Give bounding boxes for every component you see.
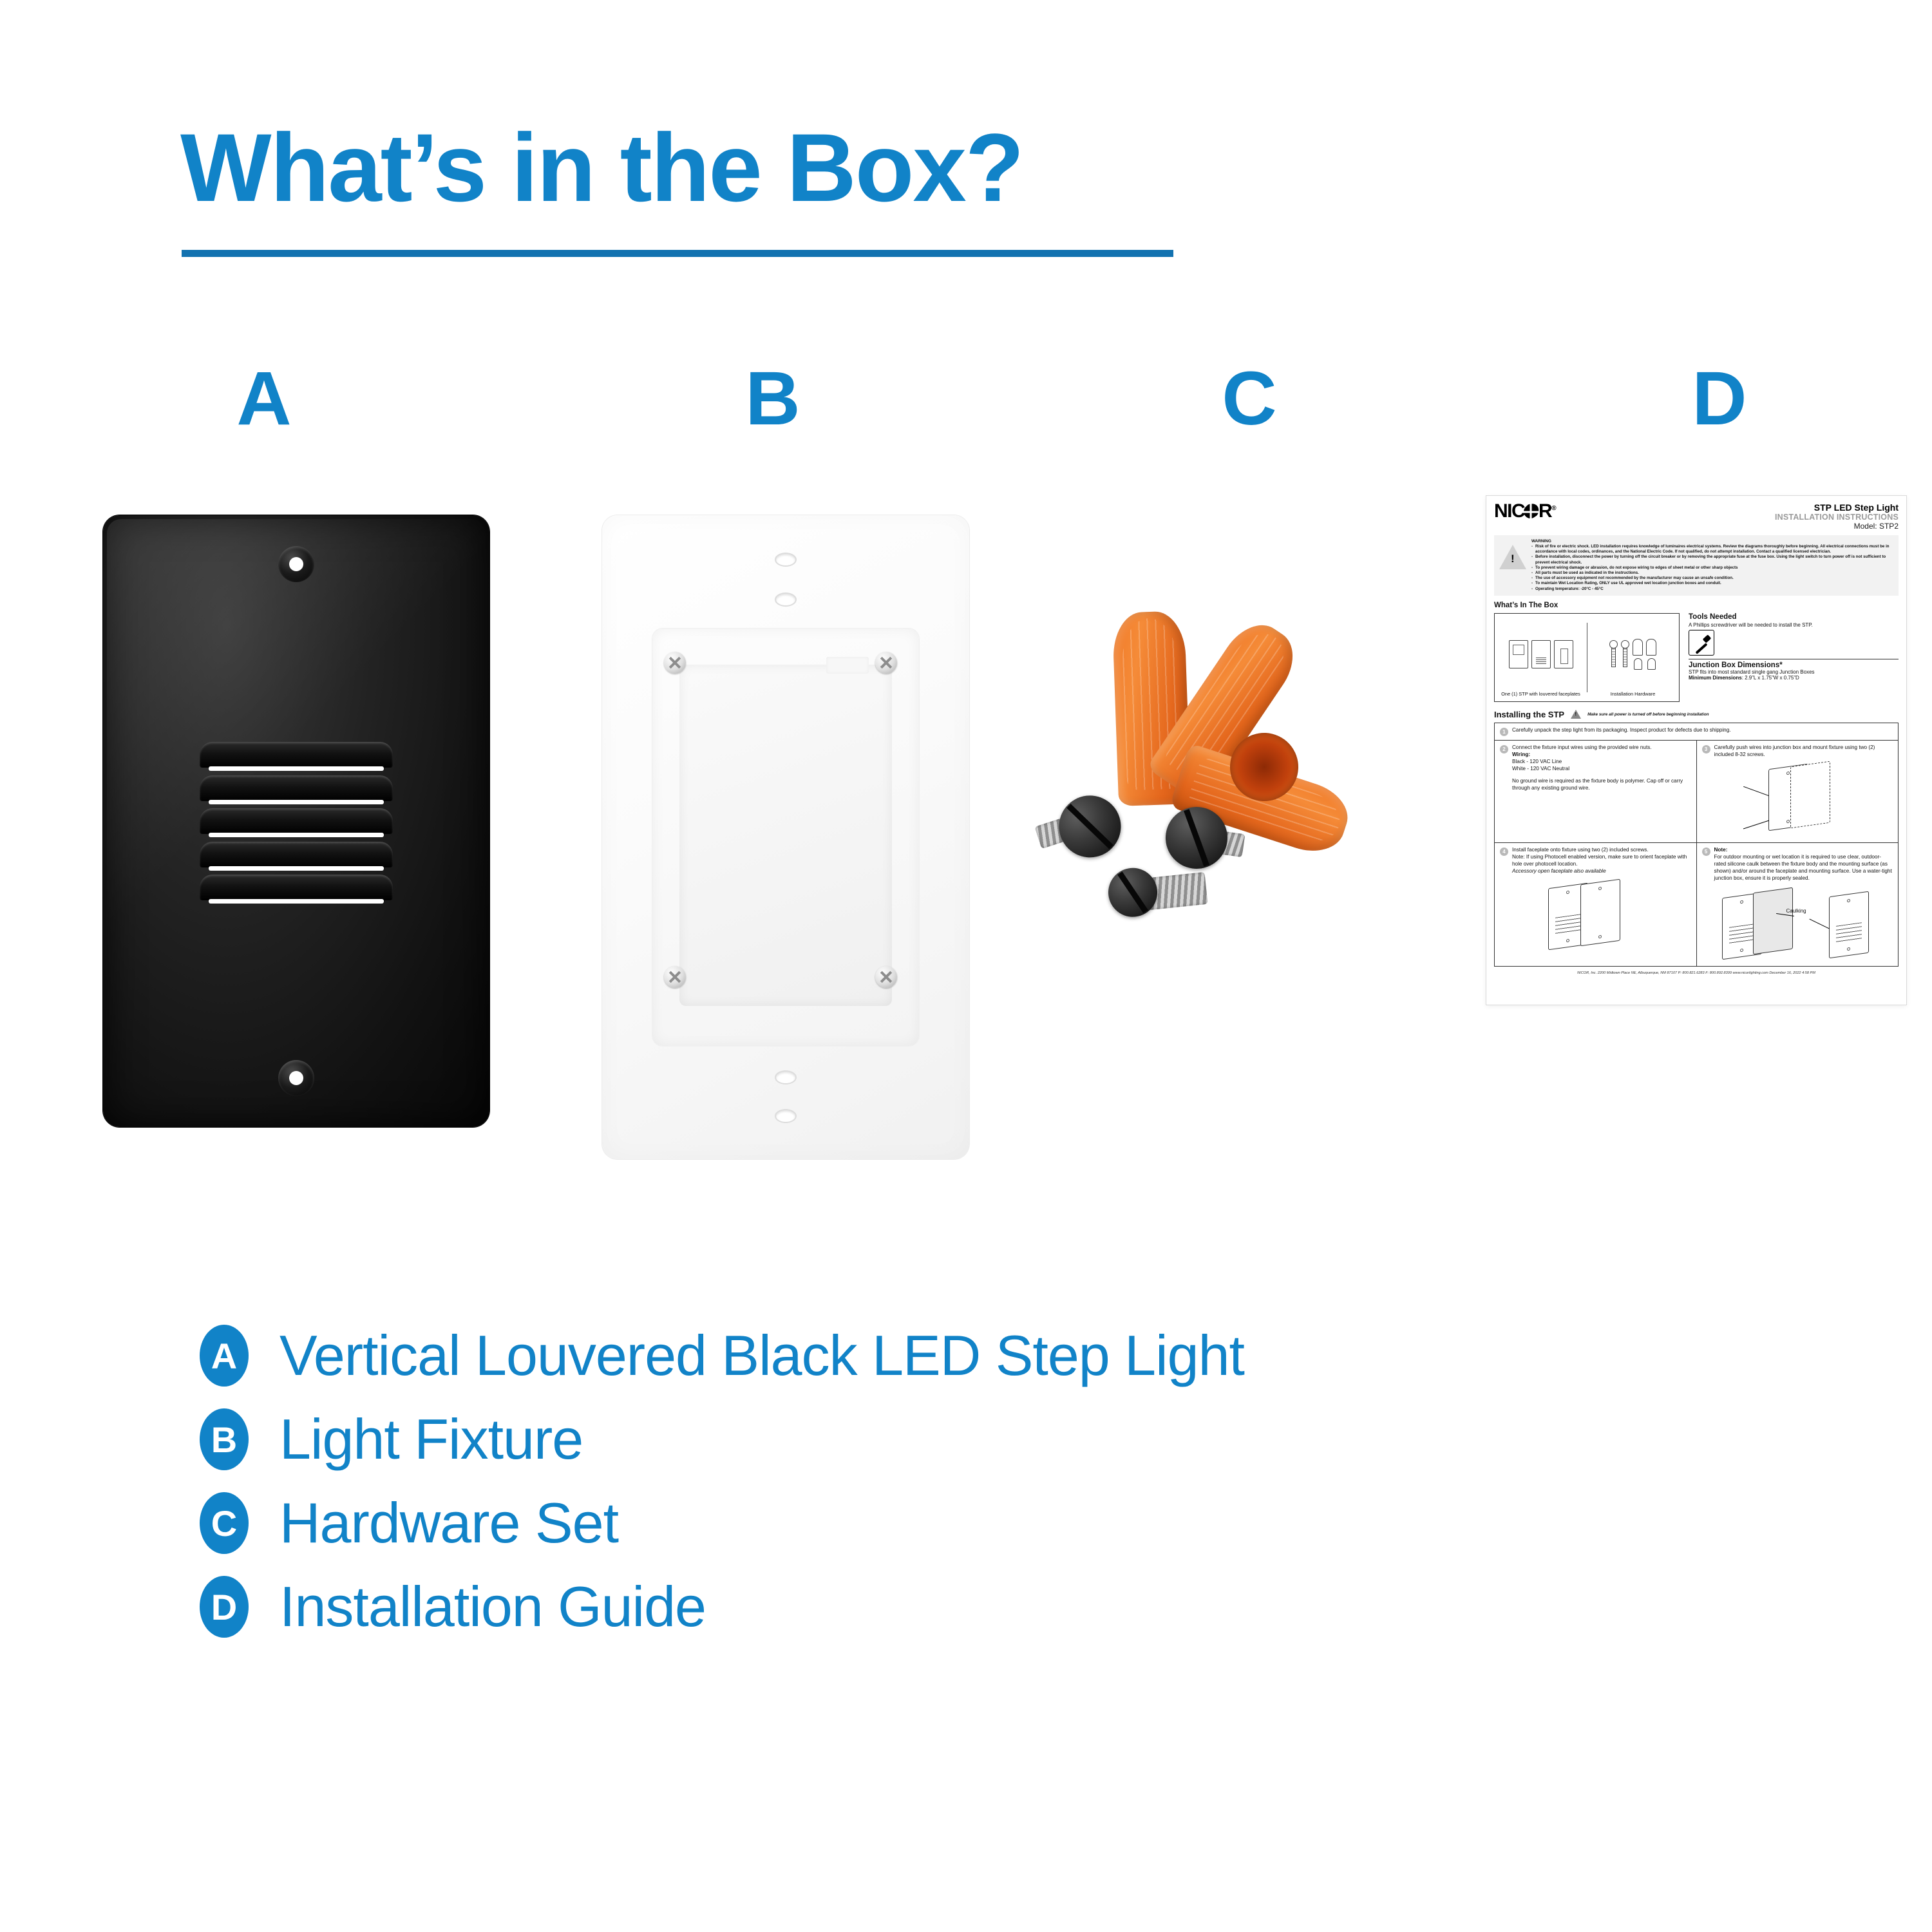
witb-right-caption: Installation Hardware <box>1611 691 1655 697</box>
screw-hole-top-icon <box>278 546 314 582</box>
guide-install-heading-row: Installing the STP Make sure all power i… <box>1494 710 1899 719</box>
junction-box-line2: Minimum Dimensions: 2.9”L x 1.75”W x 0.7… <box>1689 675 1899 681</box>
step-photocell-note: Note: If using Photocell enabled version… <box>1512 854 1691 868</box>
vent-hole-icon <box>776 1072 795 1083</box>
witb-left: One (1) STP with louvered faceplates <box>1495 614 1587 701</box>
step-number: 4 <box>1500 848 1508 856</box>
warning-item: The use of accessory equipment not recom… <box>1531 576 1893 581</box>
step-4-diagram <box>1512 879 1691 955</box>
guide-witb-heading: What’s In The Box <box>1494 601 1899 609</box>
divider <box>1587 623 1587 692</box>
guide-header-right: STP LED Step Light INSTALLATION INSTRUCT… <box>1775 502 1899 531</box>
product-image-row: NICOR® STP LED Step Light INSTALLATION I… <box>0 496 1932 1191</box>
step-cell-2: 2 Connect the fixture input wires using … <box>1495 741 1697 842</box>
mini-louvered-faceplate-icon <box>1531 640 1551 668</box>
step-5-diagram: Caulking <box>1714 886 1893 962</box>
witb-fixture-art <box>1509 614 1573 691</box>
step-accessory-note: Accessory open faceplate also available <box>1512 868 1691 875</box>
install-heading: Installing the STP <box>1494 710 1564 719</box>
warning-item: To prevent wiring damage or abrasion, do… <box>1531 565 1893 571</box>
nicor-star-icon <box>1524 505 1537 518</box>
guide-steps: 1 Carefully unpack the step light from i… <box>1494 723 1899 967</box>
mini-screw-icon <box>1609 640 1618 668</box>
diagram-faceplate <box>1829 891 1869 958</box>
legend-item-b: B Light Fixture <box>200 1397 1244 1481</box>
tools-heading: Tools Needed <box>1689 613 1899 621</box>
fixture-screw-icon <box>875 652 897 674</box>
junction-box-heading: Junction Box Dimensions* <box>1689 661 1899 669</box>
warning-item: To maintain Wet Location Rating, ONLY us… <box>1531 581 1893 586</box>
legend-label-c: Hardware Set <box>279 1495 618 1551</box>
witb-left-caption: One (1) STP with louvered faceplates <box>1501 691 1580 697</box>
legend-badge-d: D <box>200 1576 249 1638</box>
guide-footer: NICOR, Inc. 2200 Midtown Place NE, Albuq… <box>1494 971 1899 975</box>
louver-slat <box>200 742 393 768</box>
step-note-title: Note: <box>1714 847 1728 853</box>
product-image-black-louvered-step-light <box>103 515 489 1127</box>
legend-item-d: D Installation Guide <box>200 1565 1244 1649</box>
guide-model: Model: STP2 <box>1775 522 1899 531</box>
step-row: 1 Carefully unpack the step light from i… <box>1495 723 1898 741</box>
item-letter-c: C <box>1185 361 1314 437</box>
item-letter-d: D <box>1655 361 1784 437</box>
step-row: 2 Connect the fixture input wires using … <box>1495 741 1898 843</box>
legend-badge-b: B <box>200 1408 249 1470</box>
witb-right: Installation Hardware <box>1587 614 1679 701</box>
screwdriver-icon <box>1689 630 1714 656</box>
step-text-block: Connect the fixture input wires using th… <box>1512 744 1691 838</box>
product-image-hardware-set <box>1043 612 1455 972</box>
guide-subtitle: INSTALLATION INSTRUCTIONS <box>1775 513 1899 522</box>
fixture-pocket <box>679 665 892 1006</box>
fixture-screw-icon <box>664 966 686 988</box>
legend-item-a: A Vertical Louvered Black LED Step Light <box>200 1314 1244 1397</box>
wiring-black: Black - 120 VAC Line <box>1512 759 1691 766</box>
legend-item-c: C Hardware Set <box>200 1481 1244 1565</box>
whats-in-the-box-page: What’s in the Box? A B C D <box>0 0 1932 1932</box>
diagram-arrow <box>1743 820 1768 829</box>
junction-box-min-label: Minimum Dimensions <box>1689 675 1742 681</box>
wiring-white: White - 120 VAC Neutral <box>1512 766 1691 773</box>
fixture-screw-icon <box>664 652 686 674</box>
page-title: What’s in the Box? <box>180 119 1023 216</box>
step-number: 2 <box>1500 745 1508 753</box>
diagram-junction-box <box>1790 761 1830 828</box>
title-underline <box>182 250 1173 257</box>
legend-list: A Vertical Louvered Black LED Step Light… <box>200 1314 1244 1649</box>
mini-wire-nut-icon <box>1646 639 1656 656</box>
louver-grille <box>200 742 393 900</box>
witb-hardware-art <box>1609 614 1656 691</box>
caulking-label: Caulking <box>1786 908 1806 914</box>
warning-triangle-icon <box>1499 545 1526 569</box>
louver-slat <box>200 808 393 834</box>
step-cell-4: 4 Install faceplate onto fixture using t… <box>1495 843 1697 966</box>
item-letter-row: A B C D <box>0 361 1932 431</box>
diagram-fixture-body <box>1580 878 1620 946</box>
item-letter-a: A <box>200 361 328 437</box>
warning-item: All parts must be used as indicated in t… <box>1531 571 1893 576</box>
page-title-wrap: What’s in the Box? <box>180 119 1023 216</box>
step-cell-5: 5 Note: For outdoor mounting or wet loca… <box>1697 843 1899 966</box>
junction-box-min-value: : 2.9”L x 1.75”W x 0.75”D <box>1742 675 1799 681</box>
step-number: 5 <box>1702 848 1710 856</box>
diagram-arrow <box>1809 918 1829 929</box>
product-image-installation-guide: NICOR® STP LED Step Light INSTALLATION I… <box>1486 496 1906 1005</box>
step-3-diagram <box>1714 762 1893 838</box>
louver-slat <box>200 842 393 867</box>
warning-list: Risk of fire or electric shock. LED inst… <box>1531 544 1893 592</box>
fixture-tab <box>826 657 869 674</box>
step-text: Connect the fixture input wires using th… <box>1512 744 1691 752</box>
diagram-arrow <box>1743 786 1769 796</box>
louver-slat <box>200 875 393 900</box>
step-text: Carefully unpack the step light from its… <box>1512 727 1731 736</box>
legend-label-d: Installation Guide <box>279 1578 706 1635</box>
nicor-logo: NICOR® <box>1494 502 1555 520</box>
junction-box-line1: STP fits into most standard single gang … <box>1689 669 1899 675</box>
install-power-note: Make sure all power is turned off before… <box>1587 712 1709 717</box>
mini-screw-icon <box>1634 658 1642 670</box>
product-image-light-fixture <box>602 515 969 1159</box>
tools-text: A Phillips screwdriver will be needed to… <box>1689 622 1899 628</box>
vent-hole-icon <box>776 554 795 565</box>
diagram-mounting-surface <box>1753 887 1793 954</box>
divider <box>1689 659 1899 659</box>
guide-tools-column: Tools Needed A Phillips screwdriver will… <box>1689 613 1899 702</box>
screw-hole-bottom-icon <box>278 1060 314 1096</box>
fixture-screw-icon <box>875 966 897 988</box>
mini-open-faceplate-icon <box>1554 640 1573 668</box>
legend-label-a: Vertical Louvered Black LED Step Light <box>279 1327 1244 1384</box>
louver-slat <box>200 775 393 801</box>
mini-wire-nut-icon <box>1633 639 1643 656</box>
ground-note: No ground wire is required as the fixtur… <box>1512 778 1691 792</box>
guide-witb-box: One (1) STP with louvered faceplates <box>1494 613 1680 702</box>
guide-title: STP LED Step Light <box>1775 502 1899 513</box>
guide-warning-box: WARNING Risk of fire or electric shock. … <box>1494 535 1899 596</box>
step-text: Install faceplate onto fixture using two… <box>1512 847 1691 854</box>
step-cell-3: 3 Carefully push wires into junction box… <box>1697 741 1899 842</box>
vent-hole-icon <box>776 1110 795 1122</box>
item-letter-b: B <box>708 361 837 437</box>
warning-item: Before installation, disconnect the powe… <box>1531 554 1893 565</box>
mini-screw-icon <box>1647 658 1656 670</box>
step-row: 4 Install faceplate onto fixture using t… <box>1495 843 1898 966</box>
mini-fixture-icon <box>1509 640 1528 668</box>
guide-witb-row: One (1) STP with louvered faceplates <box>1494 613 1899 702</box>
wiring-label: Wiring: <box>1512 752 1530 757</box>
guide-header: NICOR® STP LED Step Light INSTALLATION I… <box>1494 502 1899 531</box>
legend-label-b: Light Fixture <box>279 1411 583 1468</box>
mini-screw-icon <box>1621 640 1629 668</box>
legend-badge-c: C <box>200 1492 249 1554</box>
warning-item: Operating temperature: -20°C - 45°C <box>1531 587 1893 592</box>
step-text: Carefully push wires into junction box a… <box>1714 744 1893 759</box>
vent-hole-icon <box>776 594 795 605</box>
step-number: 1 <box>1500 728 1508 736</box>
step-number: 3 <box>1702 745 1710 753</box>
warning-item: Risk of fire or electric shock. LED inst… <box>1531 544 1893 554</box>
legend-badge-a: A <box>200 1325 249 1387</box>
step-text: For outdoor mounting or wet location it … <box>1714 854 1893 882</box>
step-cell-1: 1 Carefully unpack the step light from i… <box>1495 723 1898 740</box>
warning-heading: WARNING <box>1531 539 1893 544</box>
warning-triangle-icon <box>1571 710 1581 719</box>
